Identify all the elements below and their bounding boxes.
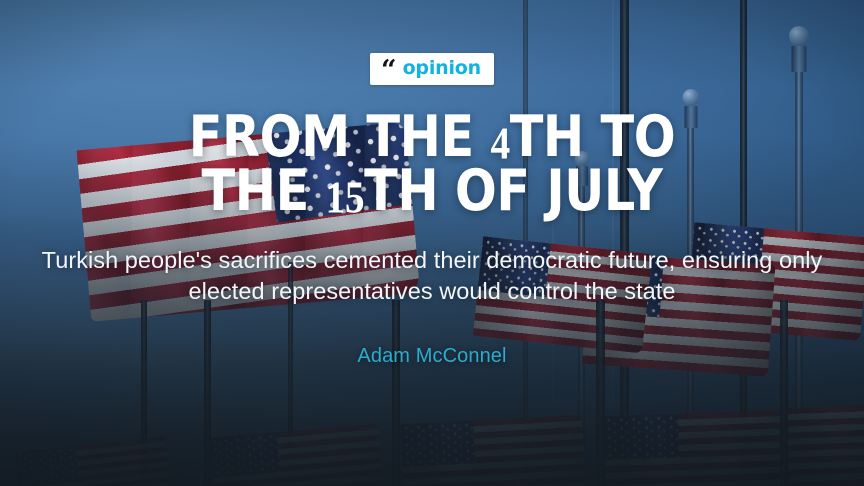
page-title-line-2-text-after: TH OF JULY: [364, 158, 662, 224]
author-byline[interactable]: Adam McConnel: [357, 345, 506, 368]
opinion-hero-banner: “ opinion FROM THE 4TH TO THE 15TH OF JU…: [0, 0, 864, 486]
page-subtitle: Turkish people's sacrifices cemented the…: [17, 245, 847, 308]
quote-marks-icon: “: [381, 63, 396, 80]
opinion-badge[interactable]: “ opinion: [370, 53, 494, 85]
page-subtitle-line-1: Turkish people's sacrifices cemented the…: [42, 247, 773, 273]
hero-text-content: “ opinion FROM THE 4TH TO THE 15TH OF JU…: [0, 0, 864, 486]
page-title-line-1: FROM THE 4TH TO: [147, 111, 718, 166]
page-title-day-number-15: 15: [326, 172, 365, 223]
page-title-line-2-text-before: THE: [202, 158, 326, 224]
opinion-badge-label: opinion: [403, 59, 481, 78]
page-title: FROM THE 4TH TO THE 15TH OF JULY: [147, 111, 718, 220]
page-title-line-2: THE 15TH OF JULY: [147, 165, 718, 220]
